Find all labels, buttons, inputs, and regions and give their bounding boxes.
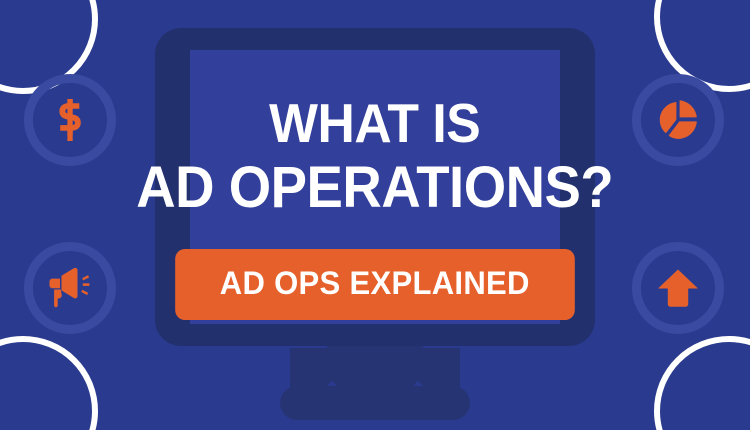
content-stack: WHAT IS AD OPERATIONS? AD OPS EXPLAINED: [0, 0, 750, 430]
page-title: WHAT IS AD OPERATIONS?: [136, 92, 613, 221]
title-line-2: AD OPERATIONS?: [136, 155, 613, 221]
promo-banner: WHAT IS AD OPERATIONS? AD OPS EXPLAINED: [0, 0, 750, 430]
title-line-1: WHAT IS: [136, 92, 613, 155]
ad-ops-explained-button[interactable]: AD OPS EXPLAINED: [175, 249, 574, 320]
